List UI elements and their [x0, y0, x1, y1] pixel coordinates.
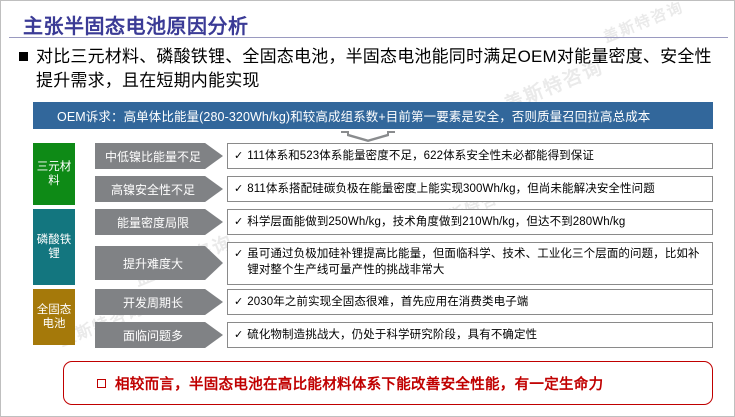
check-icon: ✓	[234, 181, 243, 197]
row-detail-text: 科学层面能做到250Wh/kg，技术角度做到210Wh/kg，但达不到280Wh…	[247, 214, 625, 230]
slide-canvas: 盖斯特咨询 盖斯特咨询 盖斯特咨询 盖斯特咨询 盖斯特咨询 主张半固态电池原因分…	[0, 0, 735, 417]
chevron-text: 高镍安全性不足	[111, 181, 195, 198]
subtitle-block: 对比三元材料、磷酸铁锂、全固态电池，半固态电池能同时满足OEM对能量密度、安全性…	[19, 45, 719, 93]
chevron-text: 面临问题多	[123, 327, 183, 344]
hollow-square-bullet-icon	[97, 379, 106, 388]
check-icon: ✓	[234, 214, 243, 230]
chevron-text: 能量密度局限	[117, 214, 189, 231]
down-arrow-icon	[339, 130, 397, 142]
row-detail-text: 811体系搭配硅碳负极在能量密度上能实现300Wh/kg，但尚未能解决安全性问题	[247, 181, 655, 197]
row-chevron-label[interactable]: 中低镍比能量不足	[95, 143, 223, 169]
row-chevron-label[interactable]: 开发周期长	[95, 289, 223, 315]
page-title: 主张半固态电池原因分析	[23, 10, 249, 39]
chevron-text: 中低镍比能量不足	[105, 148, 201, 165]
check-icon: ✓	[234, 327, 243, 343]
oem-requirement-banner: OEM诉求：高单体比能量(280-320Wh/kg)和较高成组系数+目前第一要素…	[33, 102, 713, 129]
chevron-text: 提升难度大	[123, 255, 183, 272]
row-detail-box: ✓ 科学层面能做到250Wh/kg，技术角度做到210Wh/kg，但达不到280…	[227, 209, 713, 235]
category-label: 全固态电池	[35, 303, 73, 331]
subtitle-text: 对比三元材料、磷酸铁锂、全固态电池，半固态电池能同时满足OEM对能量密度、安全性…	[36, 45, 719, 93]
oem-requirement-text: OEM诉求：高单体比能量(280-320Wh/kg)和较高成组系数+目前第一要素…	[57, 106, 650, 125]
conclusion-box: 相较而言，半固态电池在高比能材料体系下能改善安全性能，有一定生命力	[63, 361, 713, 405]
row-detail-box: ✓ 811体系搭配硅碳负极在能量密度上能实现300Wh/kg，但尚未能解决安全性…	[227, 176, 713, 202]
check-icon: ✓	[234, 246, 243, 262]
row-chevron-label[interactable]: 能量密度局限	[95, 209, 223, 235]
category-block-lfp: 磷酸铁锂	[33, 209, 75, 285]
category-block-asb: 全固态电池	[33, 289, 75, 345]
row-chevron-label[interactable]: 提升难度大	[95, 246, 223, 280]
category-label: 三元材料	[35, 160, 73, 188]
row-detail-text: 硫化物制造挑战大，仍处于科学研究阶段，具有不确定性	[247, 327, 537, 343]
check-icon: ✓	[234, 294, 243, 310]
row-detail-text: 111体系和523体系能量密度不足，622体系安全性未必都能得到保证	[247, 148, 594, 164]
conclusion-text: 相较而言，半固态电池在高比能材料体系下能改善安全性能，有一定生命力	[115, 373, 603, 394]
chevron-text: 开发周期长	[123, 294, 183, 311]
row-detail-box: ✓ 虽可通过负极加硅补锂提高比能量，但面临科学、技术、工业化三个层面的问题，比如…	[227, 242, 713, 285]
check-icon: ✓	[234, 148, 243, 164]
row-chevron-label[interactable]: 高镍安全性不足	[95, 176, 223, 202]
row-detail-text: 虽可通过负极加硅补锂提高比能量，但面临科学、技术、工业化三个层面的问题，比如补锂…	[247, 246, 707, 278]
title-divider	[9, 37, 728, 38]
row-chevron-label[interactable]: 面临问题多	[95, 322, 223, 348]
category-block-ternary: 三元材料	[33, 143, 75, 205]
row-detail-box: ✓ 硫化物制造挑战大，仍处于科学研究阶段，具有不确定性	[227, 322, 713, 348]
watermark: 盖斯特咨询	[600, 0, 687, 47]
row-detail-box: ✓ 111体系和523体系能量密度不足，622体系安全性未必都能得到保证	[227, 143, 713, 169]
square-bullet-icon	[19, 52, 28, 61]
category-label: 磷酸铁锂	[35, 233, 73, 261]
row-detail-box: ✓ 2030年之前实现全固态很难，首先应用在消费类电子端	[227, 289, 713, 315]
row-detail-text: 2030年之前实现全固态很难，首先应用在消费类电子端	[247, 294, 528, 310]
